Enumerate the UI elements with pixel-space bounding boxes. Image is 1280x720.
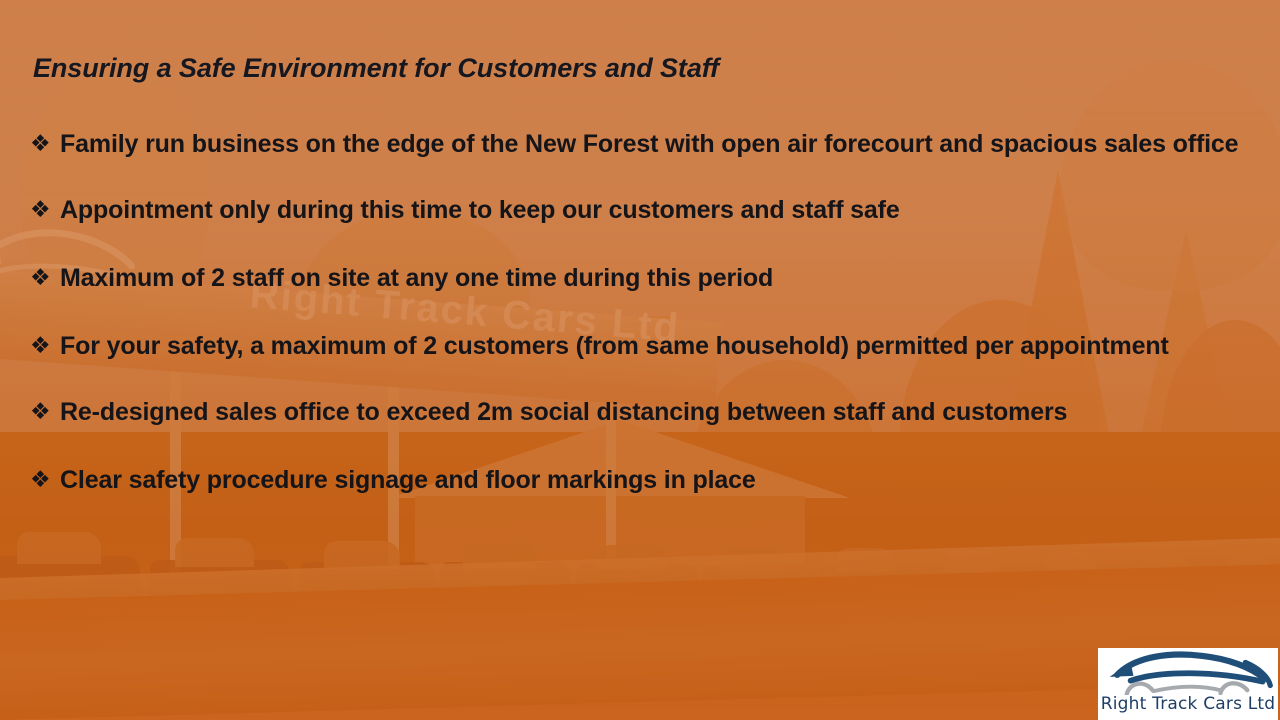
company-logo: Right Track Cars Ltd (1098, 648, 1278, 720)
slide-content: Ensuring a Safe Environment for Customer… (0, 0, 1280, 720)
diamond-bullet-icon: ❖ (30, 397, 60, 427)
diamond-bullet-icon: ❖ (30, 129, 60, 159)
car-logo-icon (1098, 651, 1278, 695)
logo-company-name: Right Track Cars Ltd (1098, 696, 1278, 713)
slide-title: Ensuring a Safe Environment for Customer… (33, 53, 719, 84)
diamond-bullet-icon: ❖ (30, 465, 60, 495)
bullet-item: ❖ Clear safety procedure signage and flo… (30, 464, 1245, 497)
diamond-bullet-icon: ❖ (30, 331, 60, 361)
diamond-bullet-icon: ❖ (30, 263, 60, 293)
bullet-text: Clear safety procedure signage and floor… (60, 464, 1245, 497)
bullet-item: ❖ Appointment only during this time to k… (30, 194, 1245, 227)
bullet-item: ❖ For your safety, a maximum of 2 custom… (30, 330, 1245, 363)
bullet-text: Maximum of 2 staff on site at any one ti… (60, 262, 1245, 295)
bullet-text: Re-designed sales office to exceed 2m so… (60, 396, 1245, 429)
bullet-item: ❖ Family run business on the edge of the… (30, 128, 1245, 161)
bullet-item: ❖ Maximum of 2 staff on site at any one … (30, 262, 1245, 295)
bullet-text: Family run business on the edge of the N… (60, 128, 1245, 161)
diamond-bullet-icon: ❖ (30, 195, 60, 225)
bullet-text: Appointment only during this time to kee… (60, 194, 1245, 227)
bullet-item: ❖ Re-designed sales office to exceed 2m … (30, 396, 1245, 429)
presentation-slide: Right Track Cars Ltd (0, 0, 1280, 720)
bullet-text: For your safety, a maximum of 2 customer… (60, 330, 1245, 363)
bullet-list: ❖ Family run business on the edge of the… (30, 128, 1245, 532)
